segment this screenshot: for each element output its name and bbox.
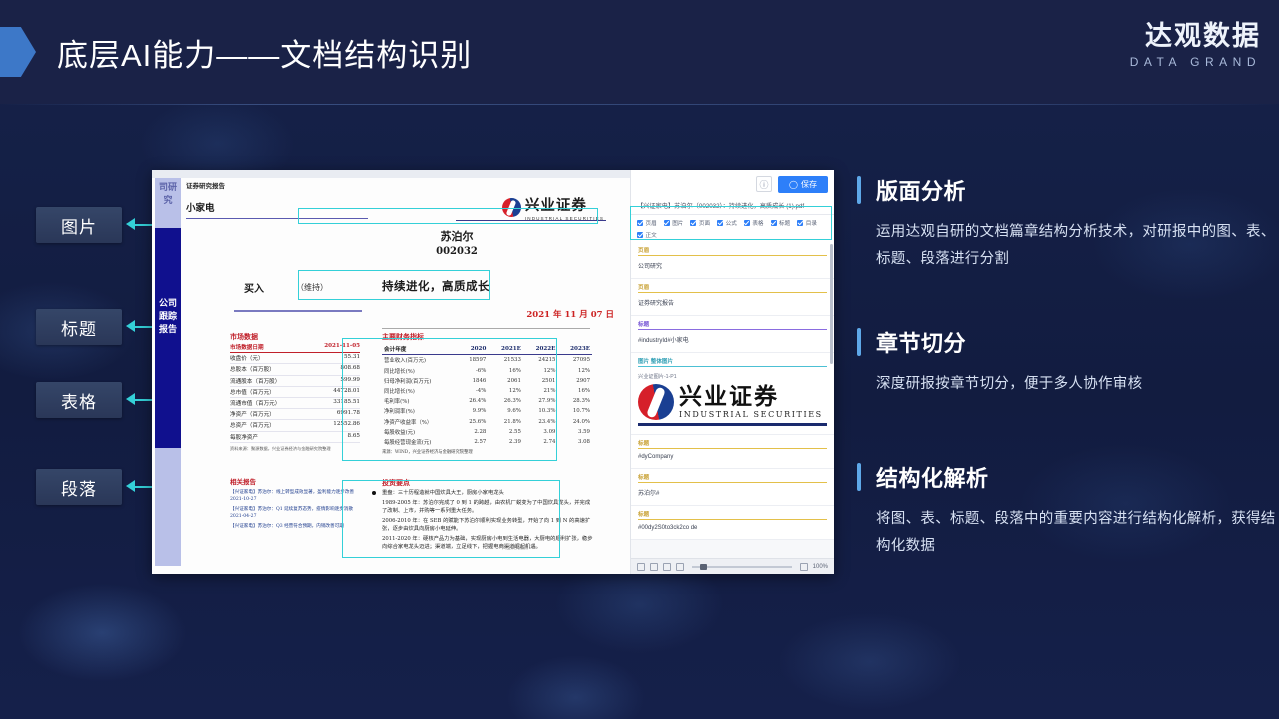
market-value: 55.31 (344, 354, 360, 362)
rotate-icon[interactable] (650, 563, 658, 571)
list-item[interactable]: 标题 #dyCompany (631, 435, 834, 469)
market-value: 44728.01 (333, 388, 360, 396)
list-item[interactable]: 标题 苏泊尔# (631, 469, 834, 506)
block-type-label: 页眉 (631, 242, 834, 255)
market-row: 总市值（百万元） 44728.01 (230, 387, 360, 398)
investment-paragraph: 1989-2005 年：苏泊尔完成了 0 到 1 的跨越，由农机厂蜕变为了中国炊… (382, 500, 594, 516)
xingye-logo-en: INDUSTRIAL SECURITIES (679, 410, 823, 419)
xingye-logo-cn: 兴业证券 (525, 194, 604, 215)
cell: 12% (557, 366, 592, 376)
page-title: 底层AI能力——文档结构识别 (57, 30, 472, 75)
investment-paragraph: 2011-2020 年：硬核产品力为基础，实现厨房小电到生活电器，大厨电的顺利扩… (382, 536, 594, 552)
block-type-label: 页眉 (631, 279, 834, 292)
market-key: 流通股本（百万股） (230, 377, 280, 385)
cell: 2.39 (488, 437, 523, 447)
market-key: 收盘价（元） (230, 354, 264, 362)
market-data-table: 市场数据 市场数据日期 2021-11-05 收盘价（元） 55.31 总股本（… (230, 332, 360, 452)
cell: 同比增长(%) (382, 366, 458, 376)
connector-paragraph-arrow (126, 480, 135, 492)
filter-label: 页面 (699, 219, 710, 227)
market-data-note: 资料来源：聚源数据，兴业证券经济与金融研究院整理 (230, 446, 360, 452)
cell: -4% (458, 386, 489, 396)
cell: 12% (523, 366, 558, 376)
save-button[interactable]: ◯ 保存 (778, 176, 828, 193)
financial-col-header: 会计年度 (382, 344, 458, 355)
cell: 26.3% (488, 396, 523, 406)
checkbox-icon[interactable] (744, 220, 750, 226)
market-row: 净资产（百万元） 6991.78 (230, 409, 360, 420)
financial-table: 会计年度 2020 2021E 2022E 2023E 营业收入(百万元) (382, 344, 592, 447)
cell: 毛利率(%) (382, 396, 458, 406)
cell: 2907 (557, 376, 592, 386)
checkbox-icon[interactable] (637, 232, 643, 238)
cell: 同比增长(%) (382, 386, 458, 396)
feature-accent-bar (857, 463, 861, 491)
checkbox-icon[interactable] (690, 220, 696, 226)
doc-rule-left (234, 310, 362, 312)
market-value: 6991.78 (337, 410, 360, 418)
info-icon[interactable]: ⓘ (756, 176, 772, 192)
cell: -6% (458, 366, 489, 376)
feature-title: 结构化解析 (876, 461, 1276, 493)
checkbox-icon[interactable] (771, 220, 777, 226)
financial-col-header: 2022E (523, 344, 558, 355)
doc-date: 2021 年 11 月 07 日 (526, 308, 614, 320)
feature-title: 版面分析 (876, 174, 1276, 206)
doc-rule-right (382, 328, 590, 329)
cell: 23.4% (523, 417, 558, 427)
parse-panel-toolbar[interactable]: ⓘ ◯ 保存 (631, 170, 834, 198)
market-value: 33185.51 (333, 399, 360, 407)
zoom-level[interactable]: 100% (813, 564, 828, 570)
related-reports-title: 相关报告 (230, 476, 360, 486)
pdf-top-strip (152, 170, 630, 178)
table-row: 净资产收益率（%） 25.6% 21.8% 23.4% 24.0% (382, 417, 592, 427)
cell: 3.08 (557, 437, 592, 447)
feature-description: 将图、表、标题、段落中的重要内容进行结构化解析，获得结构化数据 (876, 506, 1276, 560)
pdf-footer-note: 兴业研究服务 (502, 545, 528, 551)
connector-title-arrow (126, 320, 135, 332)
cell: 24.0% (557, 417, 592, 427)
cell: 2.28 (458, 427, 489, 437)
brand-logo: 达观数据 DATA GRAND (1130, 22, 1261, 69)
callout-title[interactable]: 标题 (36, 309, 122, 345)
market-row: 每股净资产 8.65 (230, 432, 360, 443)
table-row: 每股收益(元) 2.28 2.55 3.09 3.59 (382, 427, 592, 437)
market-row: 总股本（百万股） 808.68 (230, 364, 360, 375)
financial-col-header: 2020 (458, 344, 489, 355)
cell: 28.3% (557, 396, 592, 406)
fit-page-icon[interactable] (637, 563, 645, 571)
feature-chapter-split: 章节切分 深度研报按章节切分，便于多人协作审核 (857, 326, 1276, 398)
cell: 3.59 (557, 427, 592, 437)
cell: 10.7% (557, 406, 592, 416)
filter-checkbox-page[interactable]: 页面 (690, 219, 710, 227)
feature-title: 章节切分 (876, 326, 1276, 358)
parse-panel[interactable]: ⓘ ◯ 保存 【兴证家电】苏泊尔（002032）：持续进化，高质成长 (1).p… (630, 170, 834, 574)
bullet-icon (372, 491, 376, 495)
block-type-label: 标题 (631, 506, 834, 519)
market-row: 流通市值（百万元） 33185.51 (230, 398, 360, 409)
doc-rating: 买入 (244, 280, 264, 295)
document-filename: 【兴证家电】苏泊尔（002032）：持续进化，高质成长 (1).pdf (631, 198, 834, 215)
cell: 26.4% (458, 396, 489, 406)
checkbox-icon[interactable] (637, 220, 643, 226)
title-arrow-icon (0, 27, 36, 77)
block-type-label: 标题 (631, 469, 834, 482)
cell: 21533 (488, 355, 523, 366)
xingye-mark-icon (638, 384, 674, 420)
doc-kicker: 证券研究报告 (186, 180, 626, 190)
cell: 16% (557, 386, 592, 396)
viewer-bottom-toolbar[interactable]: 100% (631, 558, 834, 574)
market-key: 总资产（百万元） (230, 421, 275, 429)
cell: 25.6% (458, 417, 489, 427)
filter-label: 公式 (726, 219, 737, 227)
block-value[interactable]: #industryId#小家电 (631, 330, 834, 352)
block-value[interactable]: 苏泊尔# (631, 483, 834, 505)
single-page-icon[interactable] (676, 563, 684, 571)
market-data-title: 市场数据 (230, 332, 360, 342)
market-key: 市场数据日期 (230, 343, 264, 351)
market-value: 2021-11-05 (324, 343, 360, 351)
cell: 2501 (523, 376, 558, 386)
investment-paragraph: 2006-2010 年：在 SEB 的赋能下苏泊尔顺利实现业务转型，开始了向 1… (382, 518, 594, 534)
cell: 21.8% (488, 417, 523, 427)
feature-accent-bar (857, 328, 861, 356)
xingye-logo-cn: 兴业证券 (679, 385, 823, 409)
financial-header-row: 会计年度 2020 2021E 2022E 2023E (382, 344, 592, 355)
market-row: 流通股本（百万股） 599.99 (230, 376, 360, 387)
callout-table-label: 表格 (61, 388, 97, 413)
table-row: 同比增长(%) -4% 12% 21% 16% (382, 386, 592, 396)
feature-description: 深度研报按章节切分，便于多人协作审核 (876, 371, 1276, 398)
parse-result-list[interactable]: 页眉 公司研究 页眉 证券研究报告 标题 #industryId#小家电 图片 … (631, 242, 834, 558)
table-row: 营业收入(百万元) 18597 21533 24215 27095 (382, 355, 592, 366)
investment-points: 投资要点 重盘：三十历程造就中国炊具大王，厨房小家电龙头 1989-2005 年… (382, 478, 594, 552)
callout-paragraph-label: 段落 (61, 475, 97, 500)
brand-name-en: DATA GRAND (1130, 55, 1261, 69)
market-value: 599.99 (340, 377, 360, 385)
doc-stock-code: 002032 (382, 246, 532, 257)
block-value[interactable]: #00dy2S0to3ck2co de (631, 520, 834, 539)
cell: 每股收益(元) (382, 427, 458, 437)
cell: 9.9% (458, 406, 489, 416)
financial-col-header: 2021E (488, 344, 523, 355)
app-screenshot[interactable]: 司研究 公司跟踪报告 证券研究报告 小家电 兴业证券 INDUSTRIAL SE… (152, 170, 834, 574)
filter-label: 正文 (646, 231, 657, 239)
checkbox-icon[interactable] (664, 220, 670, 226)
extracted-image[interactable]: 兴业证图片-1-P1 兴业证券 INDUSTRIAL SECURITIES (631, 367, 834, 434)
cell: 2.74 (523, 437, 558, 447)
table-row: 每股经营现金流(元) 2.57 2.39 2.74 3.08 (382, 437, 592, 447)
related-report-item: 【兴证家电】苏泊尔：线上转型成效显著，盈利能力逐步改善 2021-10-27 (230, 489, 360, 503)
block-value[interactable]: 证券研究报告 (631, 293, 834, 315)
cell: 27095 (557, 355, 592, 366)
xingye-logo: 兴业证券 INDUSTRIAL SECURITIES (502, 194, 604, 221)
list-item[interactable]: 页眉 公司研究 (631, 242, 834, 279)
cell: 12% (488, 386, 523, 396)
list-item[interactable]: 标题 #industryId#小家电 (631, 316, 834, 353)
cell: 营业收入(百万元) (382, 355, 458, 366)
feature-description: 运用达观自研的文档篇章结构分析技术，对研报中的图、表、标题、段落进行分割 (876, 219, 1276, 273)
filter-label: 目录 (806, 219, 817, 227)
xingye-mark-icon (502, 198, 521, 217)
block-value[interactable]: 公司研究 (631, 256, 834, 278)
cell: 每股经营现金流(元) (382, 437, 458, 447)
market-row: 市场数据日期 2021-11-05 (230, 342, 360, 353)
financial-col-header: 2023E (557, 344, 592, 355)
cell: 27.9% (523, 396, 558, 406)
block-type-label: 标题 (631, 435, 834, 448)
cell: 18597 (458, 355, 489, 366)
table-row: 同比增长(%) -6% 16% 12% 12% (382, 366, 592, 376)
checkbox-icon[interactable] (717, 220, 723, 226)
cell: 净资产收益率（%） (382, 417, 458, 427)
block-value[interactable]: #dyCompany (631, 449, 834, 468)
callout-paragraph[interactable]: 段落 (36, 469, 122, 505)
list-item[interactable]: 标题 #00dy2S0to3ck2co de (631, 506, 834, 540)
fullscreen-icon[interactable] (800, 563, 808, 571)
filter-checkbox-body[interactable]: 正文 (637, 231, 657, 239)
doc-headline: 持续进化，高质成长 (382, 278, 562, 294)
cell: 净利润率(%) (382, 406, 458, 416)
feature-accent-bar (857, 176, 861, 204)
slide-stage: 底层AI能力——文档结构识别 达观数据 DATA GRAND 图片 标题 表格 … (0, 0, 1279, 719)
table-row: 归母净利润(百万元) 1846 2061 2501 2907 (382, 376, 592, 386)
element-filter-group[interactable]: 页眉 图片 页面 公式 表格 (631, 215, 834, 245)
brand-name-cn: 达观数据 (1130, 22, 1261, 50)
filter-checkbox-toc[interactable]: 目录 (797, 219, 817, 227)
pdf-side-band-dark (155, 228, 181, 448)
filter-label: 标题 (779, 219, 790, 227)
market-key: 总市值（百万元） (230, 388, 275, 396)
financial-table-title: 主要财务指标 (382, 332, 592, 342)
pdf-content: 证券研究报告 小家电 兴业证券 INDUSTRIAL SECURITIES 苏泊… (186, 180, 626, 562)
market-row: 总资产（百万元） 12552.86 (230, 420, 360, 431)
table-row: 毛利率(%) 26.4% 26.3% 27.9% 28.3% (382, 396, 592, 406)
related-report-item: 【兴证家电】苏泊尔：Q1 延续复苏态势，疫情影响逐步消散 2021-04-27 (230, 506, 360, 520)
callout-image[interactable]: 图片 (36, 207, 122, 243)
cell: 10.3% (523, 406, 558, 416)
cell: 归母净利润(百万元) (382, 376, 458, 386)
zoom-slider[interactable] (692, 566, 792, 568)
doc-company-name: 苏泊尔 (382, 228, 532, 244)
callout-image-label: 图片 (61, 213, 97, 238)
cell: 24215 (523, 355, 558, 366)
filter-checkbox-header[interactable]: 页眉 (637, 219, 657, 227)
callout-table[interactable]: 表格 (36, 382, 122, 418)
list-item[interactable]: 图片 整体图片 兴业证图片-1-P1 兴业证券 INDUSTRIAL SECUR… (631, 353, 834, 435)
market-value: 8.65 (348, 433, 360, 441)
market-key: 总股本（百万股） (230, 365, 275, 373)
financial-table-wrap: 主要财务指标 会计年度 2020 2021E 2022E 2023E (382, 332, 592, 455)
table-row: 净利润率(%) 9.9% 9.6% 10.3% 10.7% (382, 406, 592, 416)
block-type-label: 标题 (631, 316, 834, 329)
market-key: 净资产（百万元） (230, 410, 275, 418)
callout-title-label: 标题 (61, 315, 97, 340)
related-report-item: 【兴证家电】苏泊尔：Q3 经营符合预期，内销改善可期 (230, 523, 360, 530)
cell: 2.55 (488, 427, 523, 437)
filter-label: 页眉 (646, 219, 657, 227)
connector-image-arrow (126, 218, 135, 230)
cell: 9.6% (488, 406, 523, 416)
related-reports: 相关报告 【兴证家电】苏泊尔：线上转型成效显著，盈利能力逐步改善 2021-10… (230, 476, 360, 531)
market-key: 流通市值（百万元） (230, 399, 280, 407)
market-value: 12552.86 (333, 421, 360, 429)
xingye-logo-extracted: 兴业证券 INDUSTRIAL SECURITIES (638, 384, 827, 426)
doc-rule-logo (456, 220, 606, 221)
panel-scrollbar[interactable] (830, 244, 833, 364)
connector-table-arrow (126, 393, 135, 405)
block-type-label: 图片 整体图片 (631, 353, 834, 366)
cell: 1846 (458, 376, 489, 386)
feature-layout-analysis: 版面分析 运用达观自研的文档篇章结构分析技术，对研报中的图、表、标题、段落进行分… (857, 174, 1276, 273)
cell: 3.09 (523, 427, 558, 437)
market-key: 每股净资产 (230, 433, 258, 441)
financial-source: 来源：WIND，兴业证券经济与金融研究院整理 (382, 449, 592, 455)
cell: 16% (488, 366, 523, 376)
filter-checkbox-image[interactable]: 图片 (664, 219, 684, 227)
market-row: 收盘价（元） 55.31 (230, 353, 360, 364)
doc-rule-1 (186, 218, 368, 219)
investment-paragraph: 重盘：三十历程造就中国炊具大王，厨房小家电龙头 (382, 490, 594, 498)
filter-checkbox-title[interactable]: 标题 (771, 219, 791, 227)
refresh-icon: ◯ (789, 180, 798, 189)
grid-icon[interactable] (663, 563, 671, 571)
cell: 2.57 (458, 437, 489, 447)
filter-label: 表格 (752, 219, 763, 227)
save-button-label: 保存 (801, 179, 817, 190)
pdf-viewer[interactable]: 司研究 公司跟踪报告 证券研究报告 小家电 兴业证券 INDUSTRIAL SE… (152, 170, 630, 574)
pdf-page: 司研究 公司跟踪报告 证券研究报告 小家电 兴业证券 INDUSTRIAL SE… (152, 170, 630, 574)
pdf-side-text-top: 司研究 (155, 182, 181, 208)
market-value: 808.68 (340, 365, 360, 373)
checkbox-icon[interactable] (797, 220, 803, 226)
investment-title: 投资要点 (382, 478, 594, 488)
doc-rating-sub: （维持） (296, 282, 328, 293)
pdf-side-text-mid: 公司跟踪报告 (155, 298, 181, 337)
extracted-image-caption: 兴业证图片-1-P1 (638, 373, 827, 380)
filter-checkbox-formula[interactable]: 公式 (717, 219, 737, 227)
list-item[interactable]: 页眉 证券研究报告 (631, 279, 834, 316)
feature-structured-parsing: 结构化解析 将图、表、标题、段落中的重要内容进行结构化解析，获得结构化数据 (857, 461, 1276, 560)
cell: 2061 (488, 376, 523, 386)
filter-checkbox-table[interactable]: 表格 (744, 219, 764, 227)
cell: 21% (523, 386, 558, 396)
filter-label: 图片 (672, 219, 683, 227)
